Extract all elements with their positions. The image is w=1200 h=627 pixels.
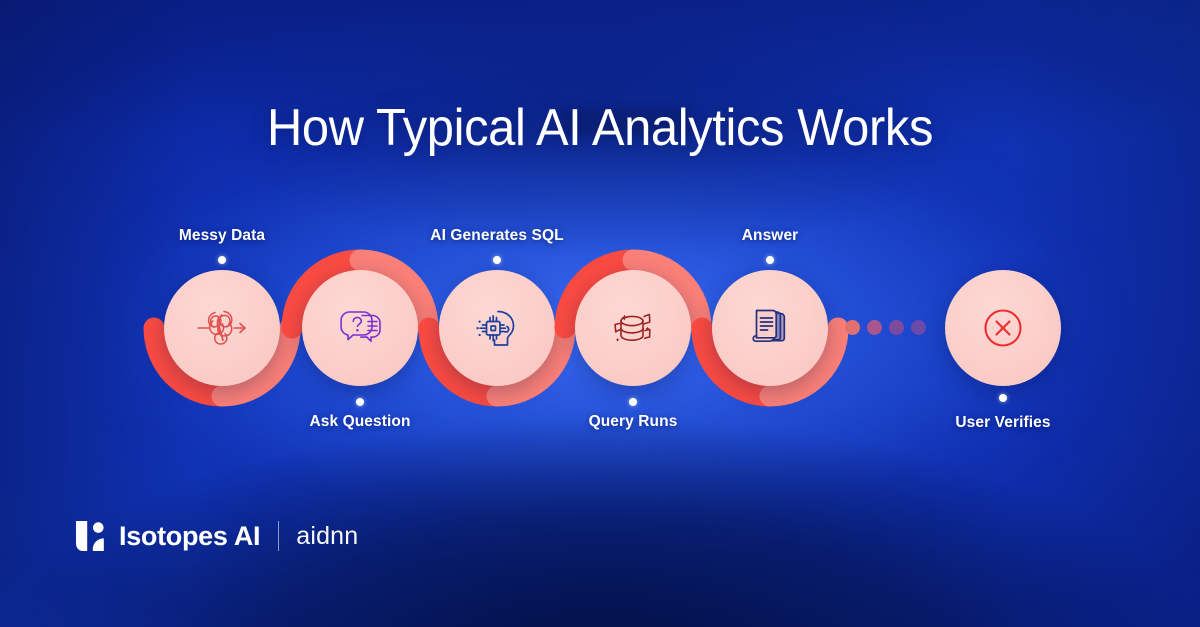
step-marker-dot xyxy=(766,256,774,264)
flow-step-5[interactable] xyxy=(712,270,828,386)
flow-step-3[interactable] xyxy=(439,270,555,386)
step-label: Answer xyxy=(640,227,900,245)
step-marker-dot xyxy=(493,256,501,264)
ai-chip-head-icon xyxy=(468,299,526,357)
flow-step-6[interactable] xyxy=(945,270,1061,386)
step-marker-dot xyxy=(356,398,364,406)
brand-logo: Isotopes AI aidnn xyxy=(74,512,358,560)
step-label: User Verifies xyxy=(873,414,1133,432)
infographic-canvas: How Typical AI Analytics Works Messy Dat… xyxy=(0,0,1200,627)
connector-dot xyxy=(911,320,926,335)
step-label: Messy Data xyxy=(92,227,352,245)
step-marker-dot xyxy=(218,256,226,264)
connector-dot xyxy=(845,320,860,335)
chat-question-bubbles-icon xyxy=(331,299,389,357)
database-sparkle-icon xyxy=(604,299,662,357)
step-label: AI Generates SQL xyxy=(367,227,627,245)
step-marker-dot xyxy=(629,398,637,406)
flow-step-2[interactable] xyxy=(302,270,418,386)
connector-dot xyxy=(867,320,882,335)
circle-x-error-icon xyxy=(974,299,1032,357)
documents-stack-icon xyxy=(741,299,799,357)
step-marker-dot xyxy=(999,394,1007,402)
isotopes-logo-mark-icon xyxy=(74,519,106,553)
logo-company-name: Isotopes AI xyxy=(119,521,260,552)
logo-product-name: aidnn xyxy=(296,522,358,551)
step-label: Query Runs xyxy=(503,413,763,431)
flow-step-1[interactable] xyxy=(164,270,280,386)
connector-dot xyxy=(889,320,904,335)
tangled-scribble-arrow-icon xyxy=(193,299,251,357)
step-label: Ask Question xyxy=(230,413,490,431)
logo-divider xyxy=(278,521,279,551)
flow-step-4[interactable] xyxy=(575,270,691,386)
